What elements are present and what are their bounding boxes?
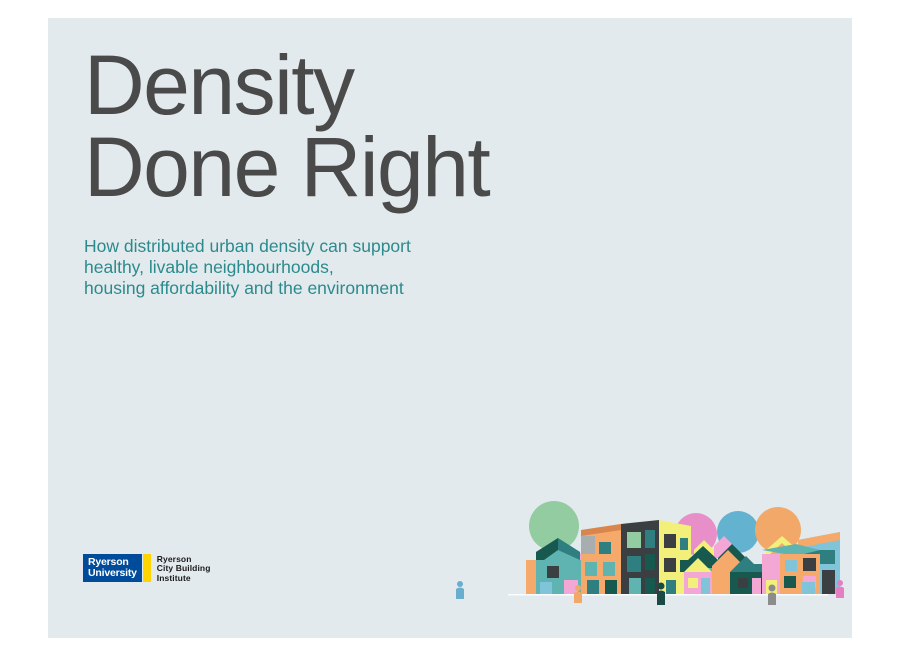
house-pink-yellowroof bbox=[684, 558, 712, 594]
subtitle-line-3: housing affordability and the environmen… bbox=[84, 278, 644, 299]
neighbourhood-illustration bbox=[448, 488, 848, 618]
figure-blue-icon bbox=[456, 581, 464, 599]
institute-wordmark: Ryerson City Building Institute bbox=[157, 554, 211, 584]
ryerson-city-building-institute-logo: Ryerson University Ryerson City Building… bbox=[83, 554, 211, 588]
title-line-1: Density bbox=[84, 44, 724, 126]
figure-dark-icon bbox=[657, 583, 665, 606]
figure-grey-icon bbox=[768, 585, 776, 606]
logo-box-line-2: University bbox=[88, 568, 137, 579]
figure-pink-icon bbox=[836, 580, 844, 598]
institute-line-3: Institute bbox=[157, 574, 211, 584]
title-line-2: Done Right bbox=[84, 126, 724, 208]
logo-yellow-bar bbox=[143, 554, 151, 582]
figure-orange-icon bbox=[574, 585, 582, 603]
ryerson-university-logo-box: Ryerson University bbox=[83, 554, 142, 582]
subtitle-line-1: How distributed urban density can suppor… bbox=[84, 236, 644, 257]
subtitle-line-2: healthy, livable neighbourhoods, bbox=[84, 257, 644, 278]
cover-page: Density Done Right How distributed urban… bbox=[48, 18, 852, 638]
page-title: Density Done Right bbox=[84, 44, 724, 208]
page-subtitle: How distributed urban density can suppor… bbox=[84, 236, 644, 299]
ground-line bbox=[508, 594, 828, 596]
